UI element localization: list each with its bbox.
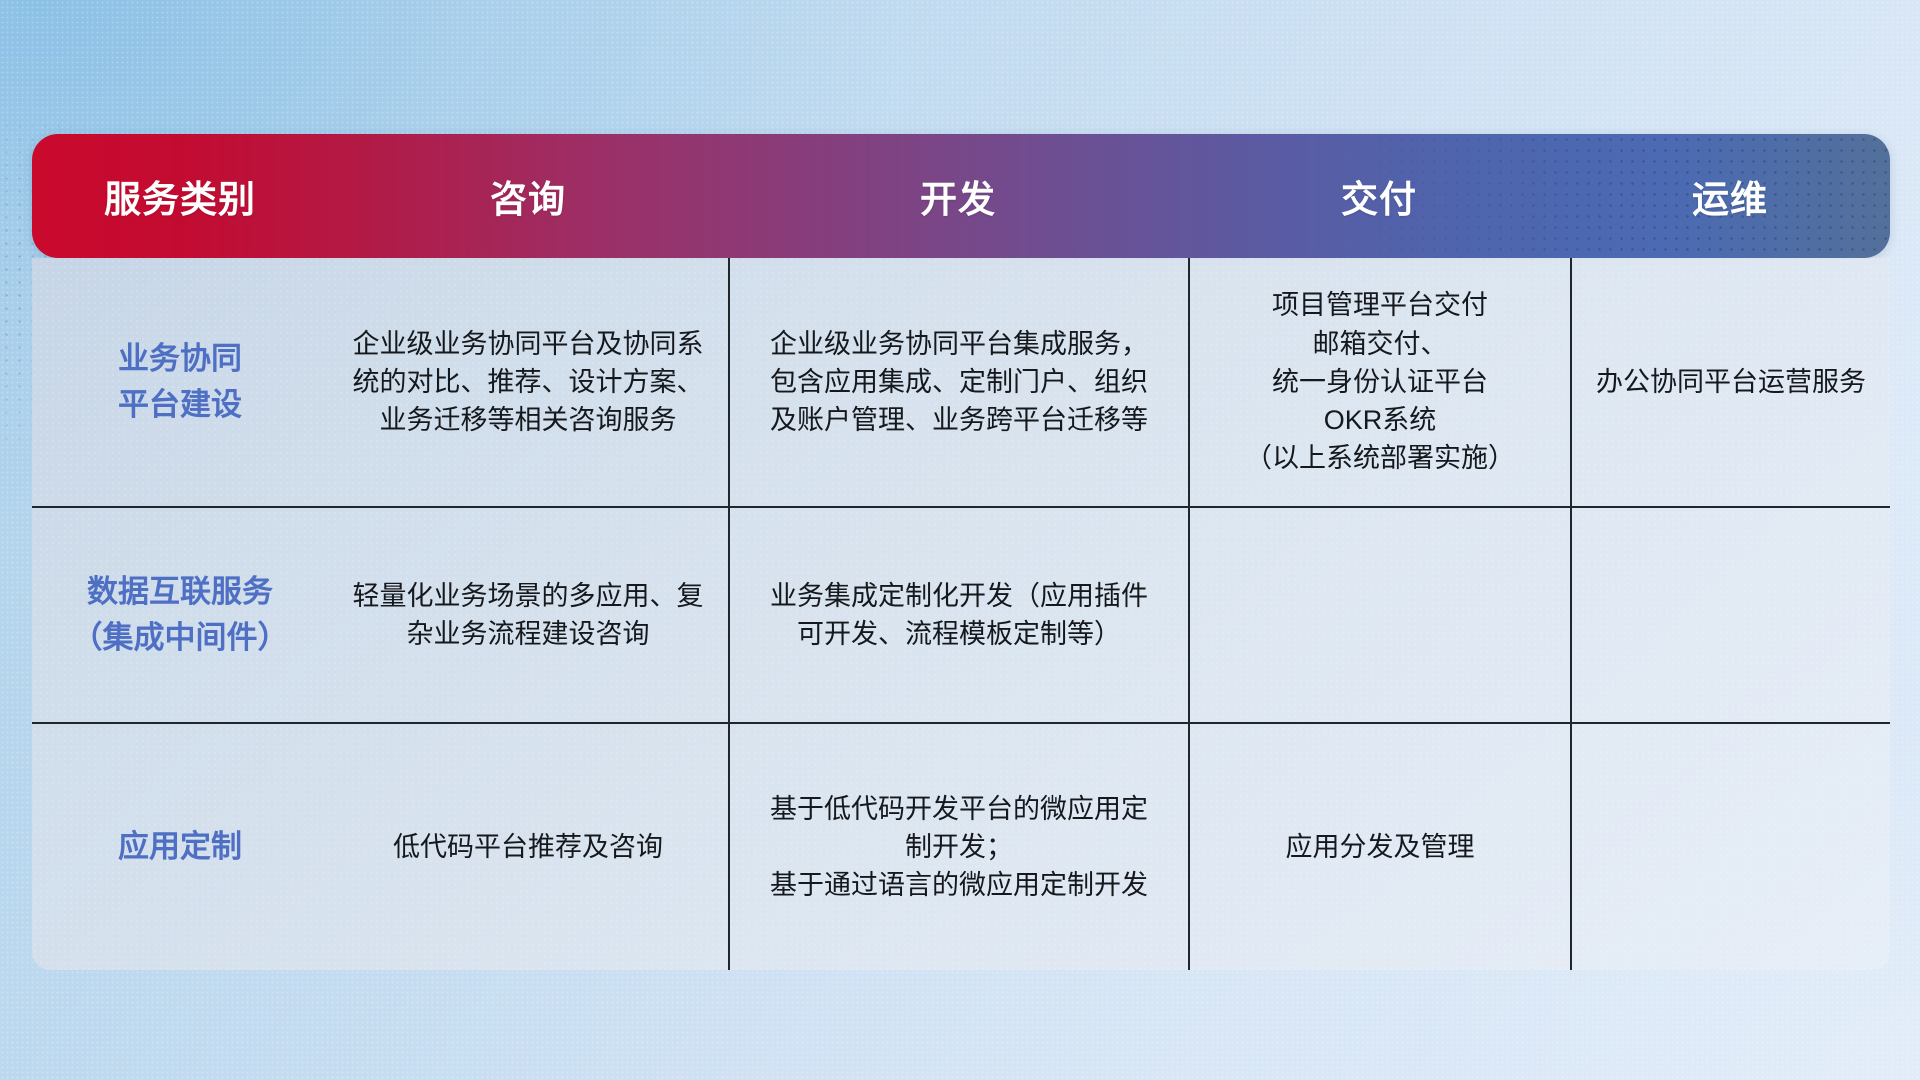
cell-development: 业务集成定制化开发（应用插件 可开发、流程模板定制等） — [728, 508, 1188, 722]
cell-delivery: 项目管理平台交付 邮箱交付、 统一身份认证平台 OKR系统 （以上系统部署实施） — [1188, 258, 1570, 506]
column-header-development: 开发 — [728, 169, 1188, 223]
cell-operations: 办公协同平台运营服务 — [1570, 258, 1890, 506]
column-header-delivery: 交付 — [1188, 169, 1570, 223]
cell-development: 基于低代码开发平台的微应用定 制开发； 基于通过语言的微应用定制开发 — [728, 724, 1188, 970]
row-label-app-customization: 应用定制 — [32, 724, 328, 970]
cell-development: 企业级业务协同平台集成服务， 包含应用集成、定制门户、组织 及账户管理、业务跨平… — [728, 258, 1188, 506]
cell-consulting: 企业级业务协同平台及协同系 统的对比、推荐、设计方案、 业务迁移等相关咨询服务 — [328, 258, 728, 506]
column-header-category: 服务类别 — [32, 169, 328, 223]
table-header-row: 服务类别 咨询 开发 交付 运维 — [32, 134, 1890, 258]
cell-consulting: 低代码平台推荐及咨询 — [328, 724, 728, 970]
table-body: 业务协同 平台建设 企业级业务协同平台及协同系 统的对比、推荐、设计方案、 业务… — [32, 258, 1890, 970]
table-row: 数据互联服务 （集成中间件） 轻量化业务场景的多应用、复 杂业务流程建设咨询 业… — [32, 506, 1890, 722]
service-matrix-table: 服务类别 咨询 开发 交付 运维 业务协同 平台建设 企业级业务协同平台及协同系… — [32, 134, 1890, 970]
cell-delivery: 应用分发及管理 — [1188, 724, 1570, 970]
cell-delivery — [1188, 508, 1570, 722]
cell-consulting: 轻量化业务场景的多应用、复 杂业务流程建设咨询 — [328, 508, 728, 722]
row-label-data-interconnect: 数据互联服务 （集成中间件） — [32, 508, 328, 722]
table-row: 应用定制 低代码平台推荐及咨询 基于低代码开发平台的微应用定 制开发； 基于通过… — [32, 722, 1890, 970]
table-row: 业务协同 平台建设 企业级业务协同平台及协同系 统的对比、推荐、设计方案、 业务… — [32, 258, 1890, 506]
cell-operations — [1570, 508, 1890, 722]
cell-operations — [1570, 724, 1890, 970]
row-label-business-collaboration: 业务协同 平台建设 — [32, 258, 328, 506]
column-header-operations: 运维 — [1570, 169, 1890, 223]
column-header-consulting: 咨询 — [328, 169, 728, 223]
